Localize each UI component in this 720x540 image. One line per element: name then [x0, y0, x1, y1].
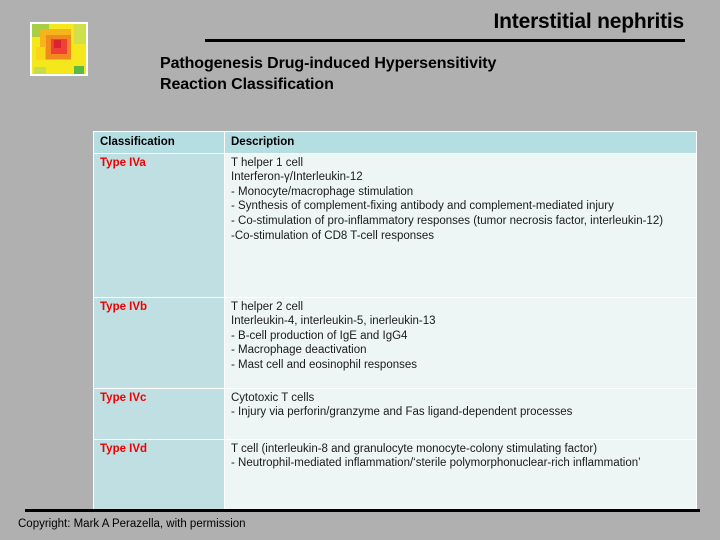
- description-line: - Neutrophil-mediated inflammation/‘ster…: [231, 456, 691, 471]
- logo-swatch-yellow-left: [36, 47, 45, 60]
- description-line: T cell (interleukin-8 and granulocyte mo…: [231, 442, 691, 457]
- title-divider-rule: [205, 39, 685, 42]
- logo-swatch-green-bottom-right: [74, 66, 84, 74]
- description-line: - Injury via perforin/granzyme and Fas l…: [231, 405, 691, 420]
- subtitle-line-2: Reaction Classification: [160, 76, 334, 93]
- cell-description: T cell (interleukin-8 and granulocyte mo…: [225, 439, 697, 511]
- table-row: Type IVc Cytotoxic T cells - Injury via …: [94, 388, 697, 439]
- column-header-classification: Classification: [94, 132, 225, 154]
- copyright-notice: Copyright: Mark A Perazella, with permis…: [18, 518, 246, 530]
- classification-table-container: Classification Description Type IVa T he…: [93, 131, 697, 512]
- cell-description: T helper 2 cell Interleukin-4, interleuk…: [225, 297, 697, 388]
- cell-description: Cytotoxic T cells - Injury via perforin/…: [225, 388, 697, 439]
- slide-title: Interstitial nephritis: [494, 10, 684, 34]
- logo-swatch-lime-bottom-left: [34, 67, 46, 74]
- table-row: Type IVa T helper 1 cell Interferon-γ/In…: [94, 153, 697, 297]
- logo-swatch-lime-top-right: [74, 24, 86, 44]
- description-line: - Mast cell and eosinophil responses: [231, 358, 691, 373]
- logo-swatch-crimson: [54, 40, 62, 48]
- description-line: Interleukin-4, interleukin-5, inerleukin…: [231, 314, 691, 329]
- cell-description: T helper 1 cell Interferon-γ/Interleukin…: [225, 153, 697, 297]
- description-line: - Synthesis of complement-fixing antibod…: [231, 199, 691, 214]
- classification-table: Classification Description Type IVa T he…: [93, 131, 697, 512]
- cell-classification: Type IVa: [94, 153, 225, 297]
- description-line: Cytotoxic T cells: [231, 391, 691, 406]
- footer-divider-rule: [25, 509, 700, 512]
- logo-swatch-grid: [32, 24, 86, 74]
- cell-classification: Type IVd: [94, 439, 225, 511]
- table-row: Type IVd T cell (interleukin-8 and granu…: [94, 439, 697, 511]
- subtitle-line-1: Pathogenesis Drug-induced Hypersensitivi…: [160, 55, 496, 72]
- description-line: - Monocyte/macrophage stimulation: [231, 185, 691, 200]
- table-row: Type IVb T helper 2 cell Interleukin-4, …: [94, 297, 697, 388]
- column-header-description: Description: [225, 132, 697, 154]
- slide-subtitle: Pathogenesis Drug-induced Hypersensitivi…: [160, 53, 660, 95]
- presentation-logo: [30, 22, 88, 76]
- description-line: - B-cell production of IgE and IgG4: [231, 329, 691, 344]
- table-header-row: Classification Description: [94, 132, 697, 154]
- cell-classification: Type IVc: [94, 388, 225, 439]
- description-line: -Co-stimulation of CD8 T-cell responses: [231, 229, 691, 244]
- description-line: - Co-stimulation of pro-inflammatory res…: [231, 214, 691, 229]
- description-line: T helper 2 cell: [231, 300, 691, 315]
- description-line: Interferon-γ/Interleukin-12: [231, 170, 691, 185]
- cell-classification: Type IVb: [94, 297, 225, 388]
- description-line: T helper 1 cell: [231, 156, 691, 171]
- description-line: - Macrophage deactivation: [231, 343, 691, 358]
